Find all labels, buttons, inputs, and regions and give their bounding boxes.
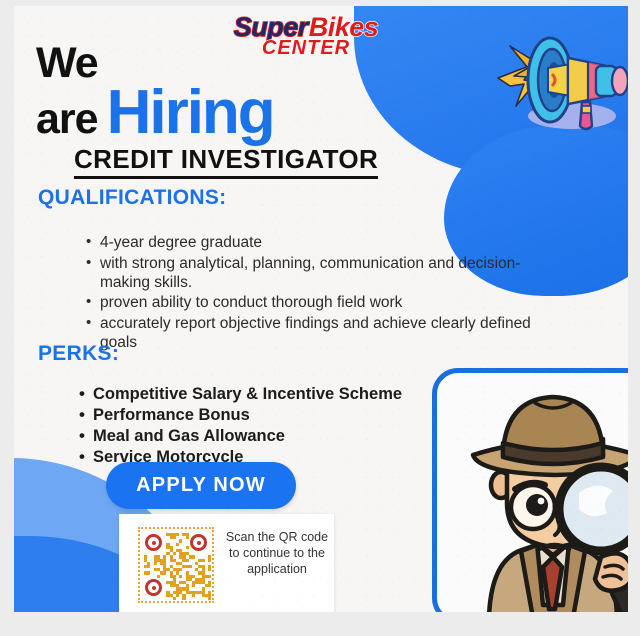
job-poster: SuperBikes CENTER We are Hiring CREDIT I… <box>14 6 628 612</box>
detective-frame <box>432 368 628 612</box>
apply-now-button[interactable]: APPLY NOW <box>106 462 296 509</box>
list-item: 4-year degree graduate <box>84 234 534 253</box>
qr-finder-top-left <box>145 534 162 551</box>
qualifications-heading: QUALIFICATIONS: <box>38 186 226 210</box>
headline-are: are <box>36 100 98 140</box>
headline-hiring: Hiring <box>107 84 274 141</box>
qr-finder-bottom-left <box>145 579 162 596</box>
megaphone-icon <box>490 20 628 145</box>
list-item: accurately report objective findings and… <box>84 315 534 353</box>
qr-caption: Scan the QR code to continue to the appl… <box>223 529 331 577</box>
headline: We are Hiring <box>36 44 366 141</box>
detective-icon <box>451 381 628 612</box>
qr-finder-top-right <box>190 534 207 551</box>
list-item: proven ability to conduct thorough field… <box>84 294 534 313</box>
perks-heading: PERKS: <box>38 342 119 366</box>
list-item: with strong analytical, planning, commun… <box>84 255 534 293</box>
headline-we: We <box>36 44 98 84</box>
qr-card: Scan the QR code to continue to the appl… <box>119 514 334 612</box>
qr-code-icon[interactable] <box>138 527 214 603</box>
page-title: CREDIT INVESTIGATOR <box>74 144 378 179</box>
perks-list: Competitive Salary & Incentive Scheme Pe… <box>38 384 498 468</box>
job-title-wrapper: CREDIT INVESTIGATOR <box>74 144 378 179</box>
qualifications-list: 4-year degree graduate with strong analy… <box>44 234 534 355</box>
